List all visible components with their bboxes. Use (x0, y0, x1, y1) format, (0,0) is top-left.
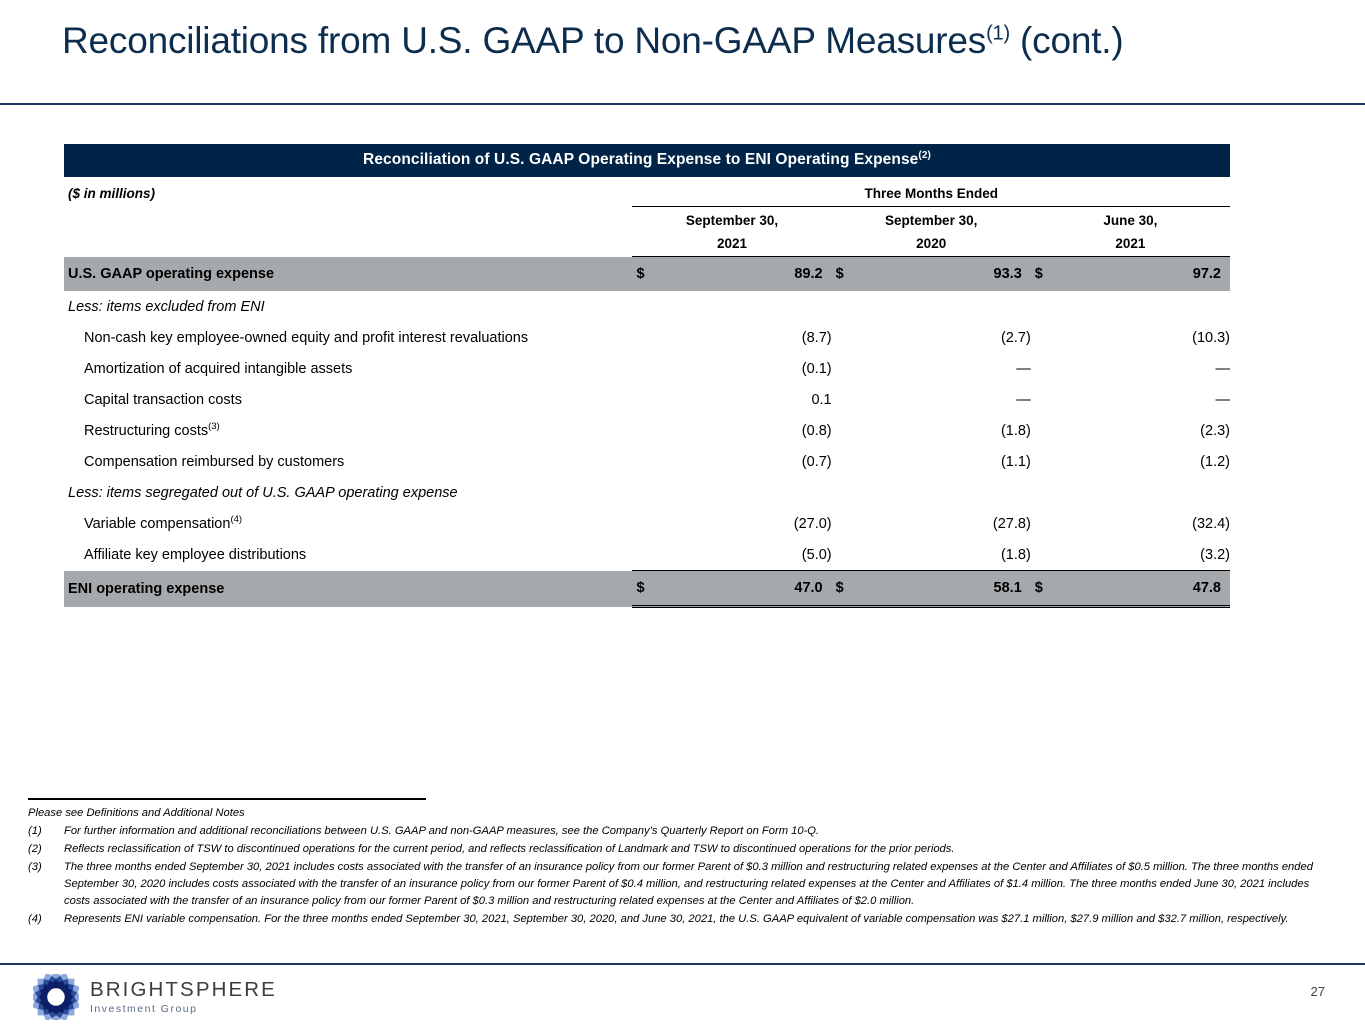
row-value-1: — (854, 353, 1031, 384)
table-row: Less: items segregated out of U.S. GAAP … (64, 477, 1230, 508)
currency-cell (632, 477, 654, 508)
currency-symbol-gaap-0: $ (632, 257, 654, 292)
brand-logo: BRIGHTSPHERE Investment Group (33, 974, 277, 1020)
table-row-eni-operating-expense-total: ENI operating expense $ 47.0 $ 58.1 $ 47… (64, 571, 1230, 607)
currency-cell (832, 446, 854, 477)
currency-cell (632, 384, 654, 415)
footnote-text: The three months ended September 30, 202… (64, 859, 1338, 910)
currency-cell (1031, 539, 1053, 571)
currency-cell (632, 446, 654, 477)
currency-symbol-gaap-2: $ (1031, 257, 1053, 292)
value-gaap-0: 89.2 (654, 257, 831, 292)
currency-symbol-total-2: $ (1031, 571, 1053, 607)
currency-symbol-total-0: $ (632, 571, 654, 607)
row-label-text: Less: items excluded from ENI (68, 299, 265, 315)
currency-cell (632, 415, 654, 446)
footnote-number: (2) (28, 841, 64, 858)
table-banner-footnote-marker: (2) (918, 150, 931, 161)
page-number: 27 (1311, 984, 1325, 999)
reconciliation-table: Reconciliation of U.S. GAAP Operating Ex… (64, 144, 1230, 608)
row-value-2: (32.4) (1053, 508, 1230, 539)
row-value-1 (854, 291, 1031, 322)
currency-cell (1031, 291, 1053, 322)
row-label-footnote-marker: (3) (208, 421, 220, 432)
row-value-0: (0.1) (654, 353, 831, 384)
footnote-number: (4) (28, 911, 64, 928)
row-value-0: (8.7) (654, 322, 831, 353)
value-total-1: 58.1 (854, 571, 1031, 607)
page-title-continued: (cont.) (1010, 20, 1124, 61)
row-label: Variable compensation(4) (64, 508, 632, 539)
column-header-month-0: September 30, (632, 207, 831, 231)
table-row: Affiliate key employee distributions (5.… (64, 539, 1230, 571)
row-value-0 (654, 291, 831, 322)
currency-symbol-total-1: $ (832, 571, 854, 607)
table-row-gaap-operating-expense: U.S. GAAP operating expense $ 89.2 $ 93.… (64, 257, 1230, 292)
table-period-month-row: September 30, September 30, June 30, (64, 207, 1230, 231)
row-label-footnote-marker: (4) (230, 514, 242, 525)
row-label-text: Amortization of acquired intangible asse… (84, 361, 352, 377)
currency-symbol-gaap-1: $ (832, 257, 854, 292)
footnote-text: Reflects reclassification of TSW to disc… (64, 841, 1338, 858)
row-label-gaap-operating-expense: U.S. GAAP operating expense (64, 257, 632, 292)
currency-cell (632, 291, 654, 322)
currency-cell (1031, 322, 1053, 353)
row-value-1 (854, 477, 1031, 508)
value-total-0: 47.0 (654, 571, 831, 607)
row-label-text: Non-cash key employee-owned equity and p… (84, 330, 528, 346)
page-title-footnote-marker: (1) (986, 23, 1010, 45)
value-gaap-2: 97.2 (1053, 257, 1230, 292)
row-value-0 (654, 477, 831, 508)
currency-cell (632, 508, 654, 539)
currency-cell (1031, 415, 1053, 446)
currency-cell (1031, 508, 1053, 539)
footnote-number: (1) (28, 823, 64, 840)
table-banner-row: Reconciliation of U.S. GAAP Operating Ex… (64, 144, 1230, 177)
row-label: Affiliate key employee distributions (64, 539, 632, 571)
row-value-2: (2.3) (1053, 415, 1230, 446)
footnotes-heading: Please see Definitions and Additional No… (28, 805, 1338, 822)
table-row: Non-cash key employee-owned equity and p… (64, 322, 1230, 353)
reconciliation-table-container: Reconciliation of U.S. GAAP Operating Ex… (64, 144, 1230, 608)
brand-wordmark: BRIGHTSPHERE Investment Group (90, 979, 277, 1015)
table-units-row: ($ in millions) Three Months Ended (64, 177, 1230, 204)
currency-cell (1031, 477, 1053, 508)
footnotes-divider (28, 798, 426, 800)
row-label-text: Restructuring costs (84, 423, 208, 439)
row-value-0: (0.7) (654, 446, 831, 477)
footnote-item: (4) Represents ENI variable compensation… (28, 911, 1338, 928)
currency-cell (832, 353, 854, 384)
row-label: Capital transaction costs (64, 384, 632, 415)
table-row: Restructuring costs(3) (0.8) (1.8) (2.3) (64, 415, 1230, 446)
row-label-text: Compensation reimbursed by customers (84, 454, 344, 470)
page-title-main: Reconciliations from U.S. GAAP to Non-GA… (62, 20, 986, 61)
currency-cell (832, 539, 854, 571)
title-divider (0, 103, 1365, 105)
footnote-item: (3) The three months ended September 30,… (28, 859, 1338, 910)
row-label: Restructuring costs(3) (64, 415, 632, 446)
footnote-item: (1) For further information and addition… (28, 823, 1338, 840)
table-row: Capital transaction costs 0.1 — — (64, 384, 1230, 415)
brightsphere-starburst-icon (33, 974, 79, 1020)
footnote-text: Represents ENI variable compensation. Fo… (64, 911, 1338, 928)
period-month-spacer (64, 207, 632, 231)
row-value-2: (3.2) (1053, 539, 1230, 571)
value-gaap-1: 93.3 (854, 257, 1031, 292)
footer-divider (0, 963, 1365, 965)
row-value-1: (2.7) (854, 322, 1031, 353)
row-label-text: Variable compensation (84, 516, 230, 532)
row-value-2: — (1053, 384, 1230, 415)
footnotes: Please see Definitions and Additional No… (28, 798, 1338, 929)
row-value-2 (1053, 477, 1230, 508)
currency-cell (832, 508, 854, 539)
table-row: Variable compensation(4) (27.0) (27.8) (… (64, 508, 1230, 539)
currency-cell (832, 477, 854, 508)
row-value-2: (1.2) (1053, 446, 1230, 477)
brand-name: BRIGHTSPHERE (90, 979, 277, 1001)
row-value-2: (10.3) (1053, 322, 1230, 353)
row-value-1: (1.8) (854, 415, 1031, 446)
page-title: Reconciliations from U.S. GAAP to Non-GA… (62, 20, 1123, 62)
units-label: ($ in millions) (64, 177, 632, 204)
row-label: Less: items excluded from ENI (64, 291, 632, 322)
brand-tagline: Investment Group (90, 1004, 277, 1015)
row-label: Less: items segregated out of U.S. GAAP … (64, 477, 632, 508)
currency-cell (832, 415, 854, 446)
currency-cell (632, 353, 654, 384)
row-value-1: (1.8) (854, 539, 1031, 571)
row-value-1: (1.1) (854, 446, 1031, 477)
column-header-year-0: 2021 (632, 230, 831, 257)
table-period-year-row: 2021 2020 2021 (64, 230, 1230, 257)
row-label-text: Less: items segregated out of U.S. GAAP … (68, 485, 458, 501)
row-value-2 (1053, 291, 1230, 322)
currency-cell (832, 322, 854, 353)
column-header-month-1: September 30, (832, 207, 1031, 231)
table-banner-text: Reconciliation of U.S. GAAP Operating Ex… (363, 151, 918, 168)
row-label: Compensation reimbursed by customers (64, 446, 632, 477)
row-value-1: (27.8) (854, 508, 1031, 539)
row-label-text: Affiliate key employee distributions (84, 547, 306, 563)
table-row: Less: items excluded from ENI (64, 291, 1230, 322)
currency-cell (632, 539, 654, 571)
row-label-eni-operating-expense: ENI operating expense (64, 571, 632, 607)
row-value-0: (5.0) (654, 539, 831, 571)
column-header-month-2: June 30, (1031, 207, 1230, 231)
row-value-0: (0.8) (654, 415, 831, 446)
footnote-item: (2) Reflects reclassification of TSW to … (28, 841, 1338, 858)
row-value-2: — (1053, 353, 1230, 384)
currency-cell (1031, 384, 1053, 415)
period-year-spacer (64, 230, 632, 257)
row-label-text: Capital transaction costs (84, 392, 242, 408)
table-row: Amortization of acquired intangible asse… (64, 353, 1230, 384)
footnote-text: For further information and additional r… (64, 823, 1338, 840)
currency-cell (1031, 353, 1053, 384)
row-value-0: (27.0) (654, 508, 831, 539)
row-value-1: — (854, 384, 1031, 415)
currency-cell (832, 291, 854, 322)
value-total-2: 47.8 (1053, 571, 1230, 607)
table-banner: Reconciliation of U.S. GAAP Operating Ex… (64, 144, 1230, 177)
column-header-year-2: 2021 (1031, 230, 1230, 257)
currency-cell (832, 384, 854, 415)
currency-cell (632, 322, 654, 353)
table-row: Compensation reimbursed by customers (0.… (64, 446, 1230, 477)
row-label: Amortization of acquired intangible asse… (64, 353, 632, 384)
footnote-number: (3) (28, 859, 64, 910)
row-value-0: 0.1 (654, 384, 831, 415)
column-header-year-1: 2020 (832, 230, 1031, 257)
row-label: Non-cash key employee-owned equity and p… (64, 322, 632, 353)
currency-cell (1031, 446, 1053, 477)
group-header-three-months-ended: Three Months Ended (632, 177, 1230, 204)
